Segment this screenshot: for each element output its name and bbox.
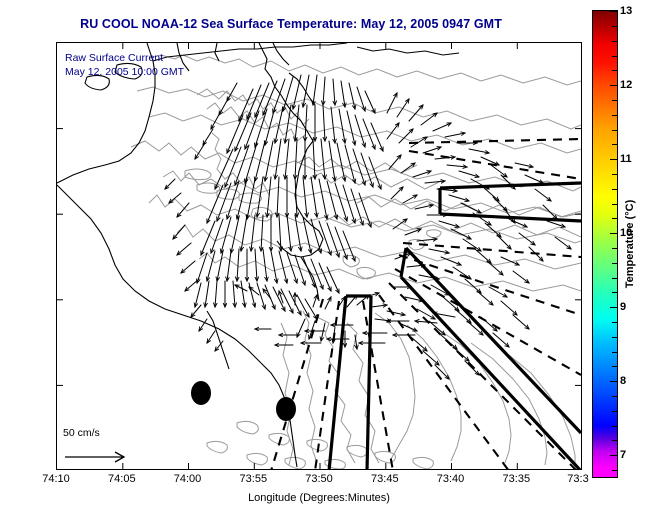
temperature-colorbar[interactable] <box>592 10 618 478</box>
colorbar-tick-label: 9 <box>620 301 626 313</box>
colorbar-axis-label: Temperature (°C) <box>624 200 636 289</box>
annotation-line-1: Raw Surface Current <box>65 51 184 65</box>
axis-tick-marks <box>57 43 581 469</box>
x-tick-label: 74:00 <box>174 473 202 485</box>
current-annotation: Raw Surface Current May 12, 2005 10:00 G… <box>65 51 184 79</box>
x-tick-label: 73:3 <box>567 473 588 485</box>
x-tick-label: 74:10 <box>42 473 70 485</box>
x-tick-label: 73:40 <box>437 473 465 485</box>
x-tick-label: 74:05 <box>108 473 136 485</box>
map-overlay-svg <box>57 43 581 469</box>
colorbar-tick-label: 13 <box>620 5 632 17</box>
colorbar-tick-label: 8 <box>620 375 626 387</box>
colorbar-tick-label: 11 <box>620 153 632 165</box>
station-marker[interactable] <box>191 381 211 405</box>
scale-reference-arrow <box>65 452 124 462</box>
map-plot-area[interactable]: Raw Surface Current May 12, 2005 10:00 G… <box>56 42 582 470</box>
scale-legend: 50 cm/s <box>63 427 100 439</box>
colorbar-tick-label: 12 <box>620 79 632 91</box>
x-tick-label: 73:35 <box>503 473 531 485</box>
station-marker[interactable] <box>276 397 296 421</box>
colorbar-tick-label: 7 <box>620 449 626 461</box>
scale-legend-label: 50 cm/s <box>63 427 100 439</box>
x-tick-label: 73:55 <box>240 473 268 485</box>
x-axis-label: Longitude (Degrees:Minutes) <box>56 492 582 504</box>
figure-canvas: RU COOL NOAA-12 Sea Surface Temperature:… <box>0 0 651 515</box>
x-tick-label: 73:50 <box>305 473 333 485</box>
annotation-line-2: May 12, 2005 10:00 GMT <box>65 65 184 79</box>
figure-title: RU COOL NOAA-12 Sea Surface Temperature:… <box>0 17 582 31</box>
x-tick-label: 73:45 <box>371 473 399 485</box>
